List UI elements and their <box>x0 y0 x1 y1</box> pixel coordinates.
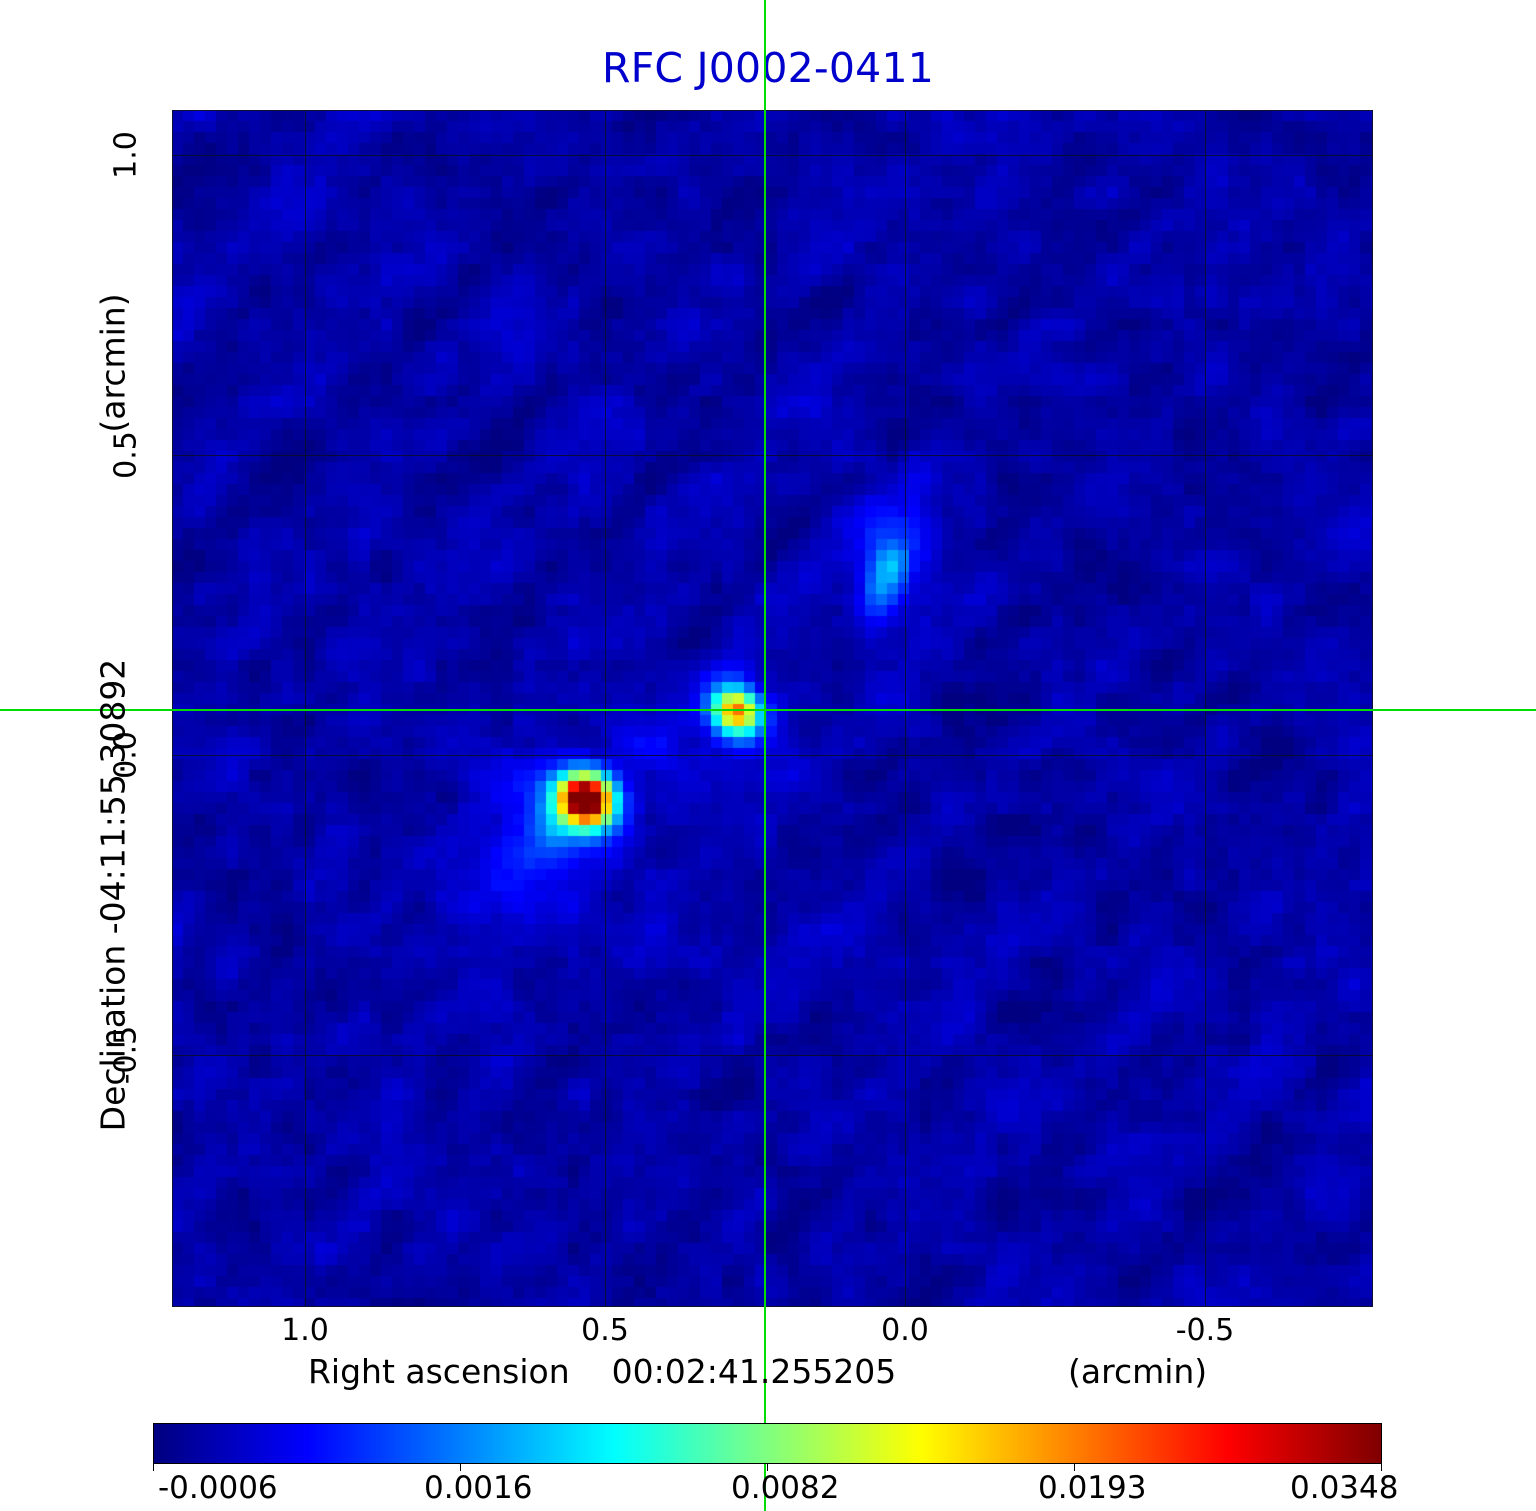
xaxis-units: (arcmin) <box>1068 1352 1207 1391</box>
colorbar[interactable] <box>153 1423 1382 1464</box>
crosshair-horizontal-line <box>0 709 1536 711</box>
xaxis-label-text: Right ascension <box>308 1352 570 1391</box>
xaxis-coordinate-text: 00:02:41.255205 <box>612 1352 897 1391</box>
colorbar-label-5: 0.0348 <box>1290 1470 1398 1506</box>
gridline-y-0.5 <box>172 455 1373 456</box>
xtick-label-1: 1.0 <box>245 1313 365 1348</box>
yaxis-title: Declination -04:11:55.30892 <box>91 660 135 1130</box>
colorbar-label-2: 0.0016 <box>424 1470 532 1506</box>
ytick-label-1-text: 1.0 <box>109 131 144 179</box>
colorbar-tick-1 <box>153 1464 154 1471</box>
radio-map-figure: RFC J0002-0411 1.0 0.5 0.0 -0.5 Right as… <box>0 0 1536 1511</box>
page-title: RFC J0002-0411 <box>0 44 1536 92</box>
yaxis-units-text: (arcmin) <box>94 293 133 432</box>
xtick-label-4: -0.5 <box>1145 1313 1265 1348</box>
xaxis-title: Right ascension 00:02:41.255205 <box>308 1352 896 1391</box>
ytick-label-2: 0.5 <box>105 433 147 477</box>
yaxis-units: (arcmin) <box>91 288 135 438</box>
crosshair-vertical-line <box>764 0 766 1511</box>
xtick-label-3: 0.0 <box>845 1313 965 1348</box>
colorbar-label-3: 0.0082 <box>731 1470 839 1506</box>
ytick-label-2-text: 0.5 <box>109 431 144 479</box>
gridline-y-0.0 <box>172 755 1373 756</box>
colorbar-label-1: -0.0006 <box>158 1470 278 1506</box>
colorbar-label-4: 0.0193 <box>1038 1470 1146 1506</box>
xtick-label-2: 0.5 <box>545 1313 665 1348</box>
colorbar-gradient[interactable] <box>153 1423 1382 1464</box>
ytick-label-1: 1.0 <box>105 133 147 177</box>
yaxis-title-text: Declination -04:11:55.30892 <box>94 659 133 1132</box>
gridline-y-1.0 <box>172 155 1373 156</box>
gridline-y--0.5 <box>172 1055 1373 1056</box>
